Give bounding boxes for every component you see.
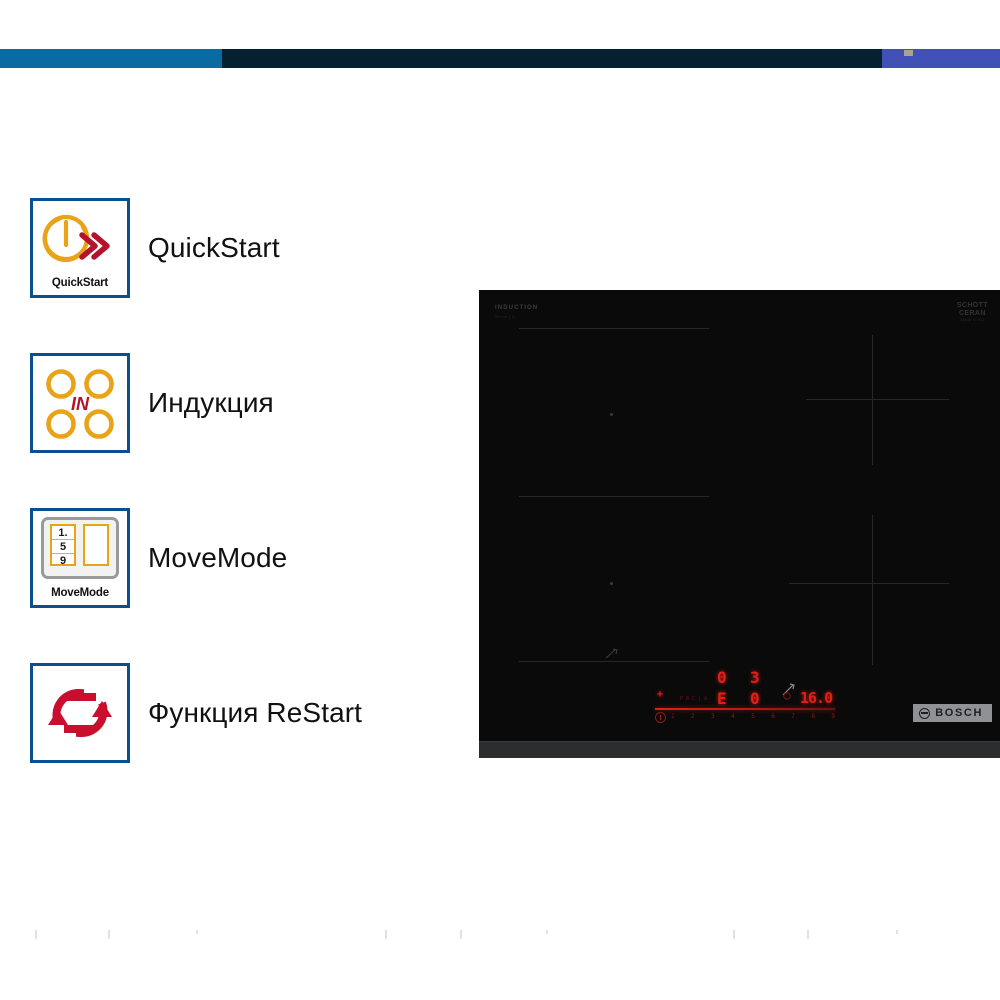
- bottom-mark: [385, 930, 387, 939]
- bottom-mark: [733, 930, 735, 939]
- feature-row-movemode[interactable]: 1. 5 9 MoveMode MoveMode: [30, 508, 450, 663]
- timer-icon[interactable]: [780, 682, 798, 700]
- tile-caption-quickstart: QuickStart: [33, 277, 127, 289]
- movemode-digit-2: 5: [52, 540, 74, 554]
- zone-line-right-bot-h: [789, 583, 949, 584]
- movemode-pane-left: 1. 5 9: [50, 524, 76, 566]
- slider-tick-4: 4: [731, 713, 735, 722]
- banner-marker-icon: [904, 50, 913, 56]
- zone-line-left-top: [519, 328, 709, 329]
- zone-line-left-bottom: [519, 661, 709, 662]
- movemode-digit-1: 1.: [52, 526, 74, 540]
- zone-line-right-bot-v: [872, 515, 873, 665]
- bottom-mark: [108, 930, 110, 939]
- slider-tick-3: 3: [711, 713, 715, 722]
- four-rings-in-icon: IN: [33, 356, 127, 450]
- feature-row-quickstart[interactable]: QuickStart QuickStart: [30, 198, 450, 353]
- schott-ceran-mark: SCHOTT CERAN Made in EU: [957, 302, 988, 323]
- display-zone-left-bottom: E: [717, 689, 727, 708]
- feature-label-quickstart: QuickStart: [148, 232, 280, 264]
- restart-arrows-icon: [44, 677, 116, 749]
- slider-tick-1: 1: [671, 713, 675, 722]
- display-zone-right-top: 3: [750, 668, 760, 687]
- slider-tick-2: 2: [691, 713, 695, 722]
- display-timer-value: 16.0: [800, 689, 832, 707]
- two-pane-levels-icon: 1. 5 9: [41, 517, 119, 579]
- power-slider-ticks[interactable]: 1 2 3 4 5 6 7 8 9: [671, 713, 835, 722]
- top-banner: [0, 49, 1000, 68]
- slider-tick-5: 5: [751, 713, 755, 722]
- feature-icon-tile-induction: IN: [30, 353, 130, 453]
- power-slider-bar[interactable]: [655, 708, 835, 710]
- display-small-label: P B C | A: [680, 696, 707, 702]
- feature-row-restart[interactable]: Функция ReStart: [30, 663, 450, 818]
- feature-icon-tile-restart: [30, 663, 130, 763]
- svg-text:IN: IN: [71, 394, 90, 414]
- bottom-mark: [196, 930, 198, 934]
- zone-line-right-top-h: [806, 399, 949, 400]
- cooktop-glass-surface: INDUCTION Serie | 6 SCHOTT CERAN Made in…: [479, 290, 1000, 742]
- banner-band-purple: [882, 49, 1000, 68]
- bottom-mark: [546, 930, 548, 934]
- display-indicator-left: +: [657, 689, 663, 700]
- feature-label-movemode: MoveMode: [148, 542, 287, 574]
- schott-line-3: Made in EU: [957, 318, 988, 323]
- feature-label-induction: Индукция: [148, 387, 274, 419]
- power-icon[interactable]: [655, 712, 666, 723]
- flex-zone-glyph-icon: [604, 647, 620, 661]
- bottom-mark: [807, 930, 809, 939]
- bottom-marks-row: [0, 930, 1000, 946]
- movemode-pane-right: [83, 524, 109, 566]
- zone-dot-left-upper: [610, 413, 613, 416]
- bottom-mark: [896, 930, 898, 934]
- slider-tick-7: 7: [791, 713, 795, 722]
- cooktop-control-panel[interactable]: 0 3 E 0 + P B C | A 16.0 1 2 3 4 5 6 7 8: [655, 668, 835, 726]
- bottom-mark: [460, 930, 462, 939]
- display-zone-right-bottom: 0: [750, 689, 760, 708]
- slider-tick-9: 9: [831, 713, 835, 722]
- cooktop-front-bezel: [479, 741, 1000, 758]
- feature-list: QuickStart QuickStart IN Индукция 1. 5: [30, 198, 450, 818]
- bosch-brand-text: BOSCH: [935, 707, 983, 719]
- banner-band-blue: [0, 49, 222, 68]
- power-circle-chevrons-icon: [33, 205, 127, 271]
- zone-line-left-mid: [519, 496, 709, 497]
- feature-icon-tile-movemode: 1. 5 9 MoveMode: [30, 508, 130, 608]
- banner-band-navy: [222, 49, 882, 68]
- bosch-brand-plate: BOSCH: [913, 704, 992, 722]
- cooktop-induction-label: INDUCTION: [495, 305, 538, 311]
- zone-line-right-top-v: [872, 335, 873, 465]
- bottom-mark: [35, 930, 37, 939]
- zone-dot-left-lower: [610, 582, 613, 585]
- feature-icon-tile-quickstart: QuickStart: [30, 198, 130, 298]
- slider-tick-8: 8: [811, 713, 815, 722]
- display-zone-left-top: 0: [717, 668, 727, 687]
- slider-tick-6: 6: [771, 713, 775, 722]
- feature-label-restart: Функция ReStart: [148, 697, 362, 729]
- movemode-digit-3: 9: [52, 554, 74, 568]
- feature-row-induction[interactable]: IN Индукция: [30, 353, 450, 508]
- schott-line-1: SCHOTT: [957, 302, 988, 310]
- bosch-logo-icon: [919, 708, 930, 719]
- cooktop-series-label: Serie | 6: [495, 314, 515, 319]
- cooktop-product-image: INDUCTION Serie | 6 SCHOTT CERAN Made in…: [479, 290, 1000, 758]
- tile-caption-movemode: MoveMode: [33, 587, 127, 599]
